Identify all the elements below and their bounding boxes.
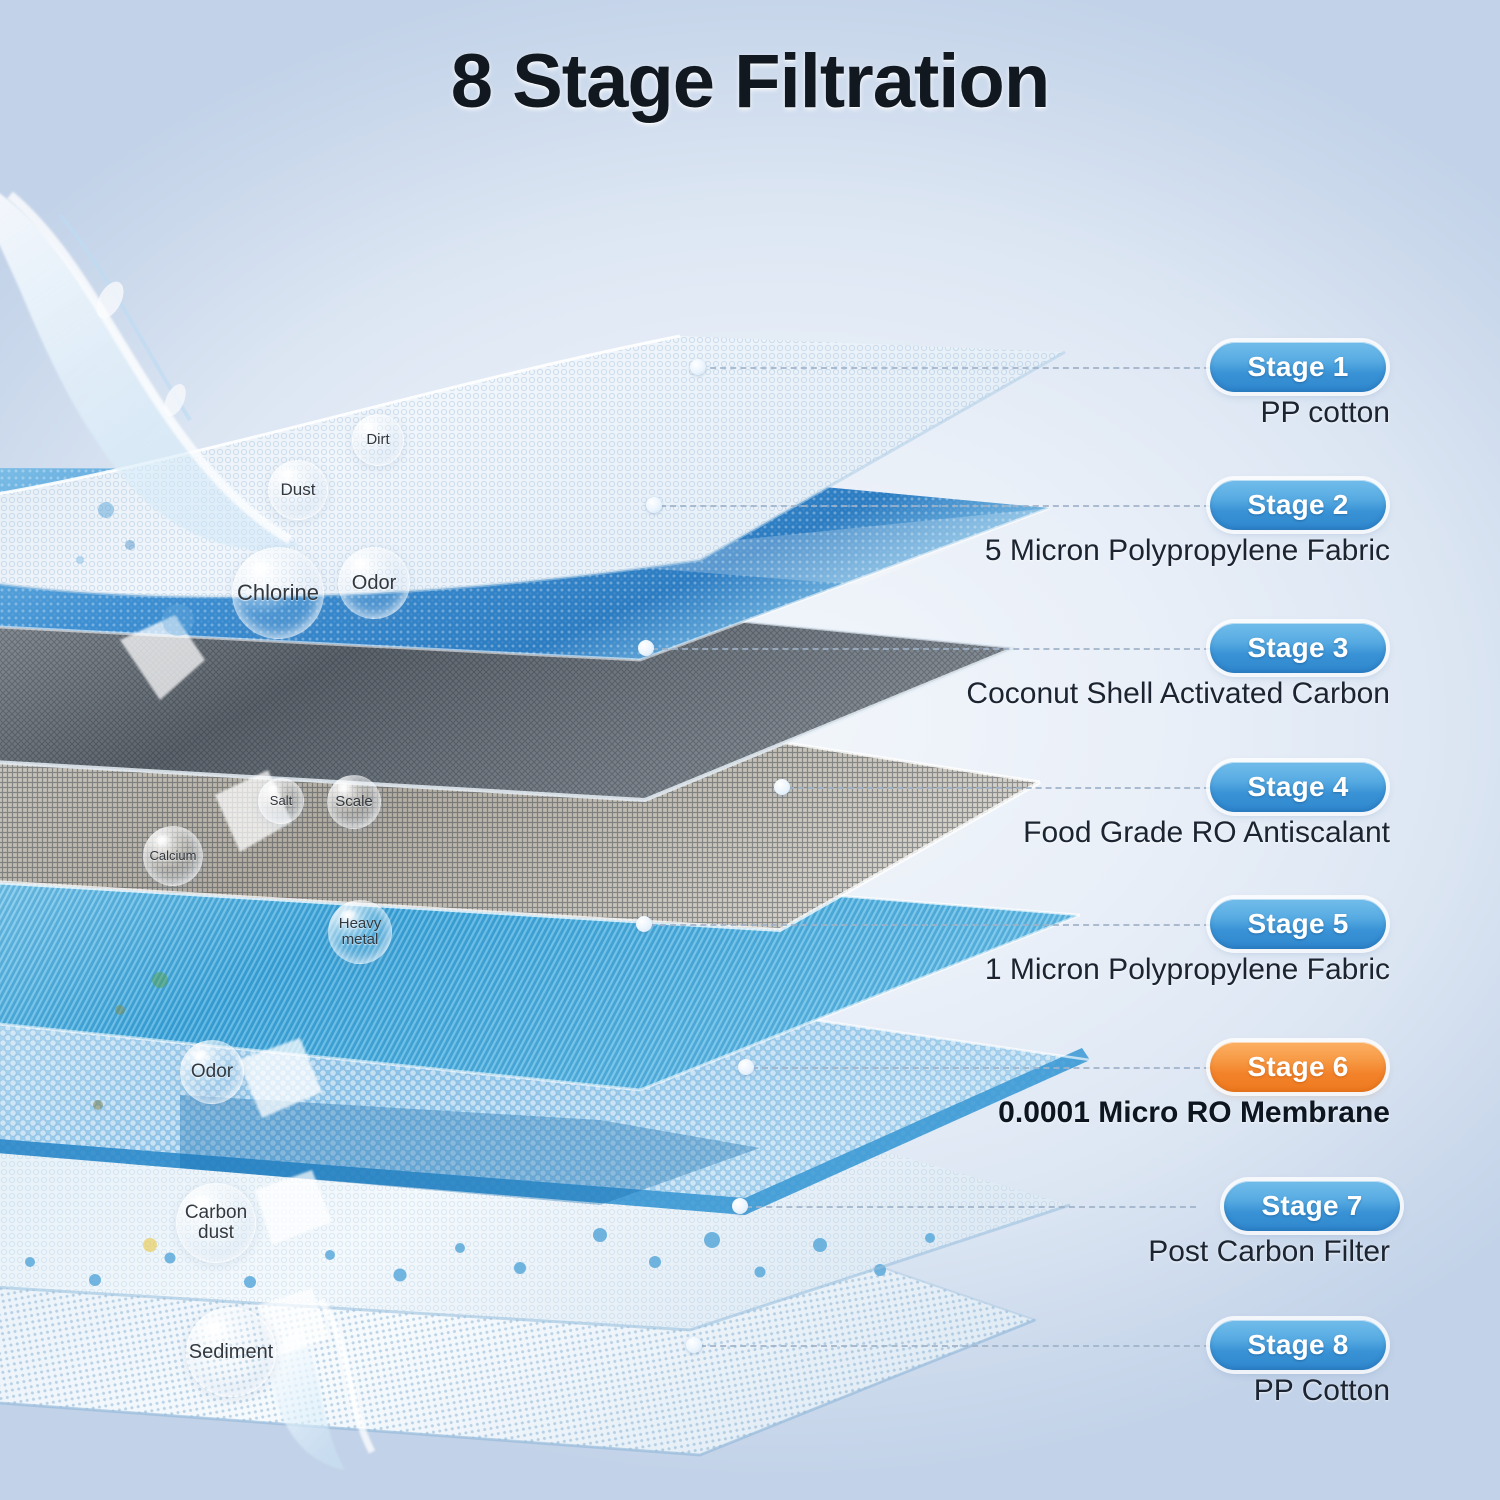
layer-anchor-dot-stage-3 — [638, 640, 654, 656]
layer-anchor-dot-stage-8 — [686, 1337, 702, 1353]
stage-description-5: 1 Micron Polypropylene Fabric — [985, 953, 1390, 987]
leader-line-stage-2 — [660, 505, 1210, 507]
stage-description-7: Post Carbon Filter — [1148, 1235, 1390, 1269]
leader-line-stage-5 — [650, 924, 1210, 926]
stage-badge-1[interactable]: Stage 1 — [1210, 342, 1386, 392]
layer-anchor-dot-stage-4 — [774, 779, 790, 795]
stage-badge-7[interactable]: Stage 7 — [1224, 1181, 1400, 1231]
stage-description-1: PP cotton — [1260, 396, 1390, 430]
stage-badge-8[interactable]: Stage 8 — [1210, 1320, 1386, 1370]
leader-line-stage-1 — [700, 367, 1210, 369]
stage-description-2: 5 Micron Polypropylene Fabric — [985, 534, 1390, 568]
leader-line-stage-7 — [746, 1206, 1196, 1208]
layer-anchor-dot-stage-7 — [732, 1198, 748, 1214]
leader-line-stage-6 — [752, 1067, 1210, 1069]
stage-badge-4[interactable]: Stage 4 — [1210, 762, 1386, 812]
stage-badge-6[interactable]: Stage 6 — [1210, 1042, 1386, 1092]
stage-description-4: Food Grade RO Antiscalant — [1023, 816, 1390, 850]
page-title: 8 Stage Filtration — [0, 38, 1500, 125]
stage-description-6: 0.0001 Micro RO Membrane — [998, 1096, 1390, 1130]
stage-legend-list: Stage 1PP cottonStage 25 Micron Polyprop… — [0, 0, 1500, 1500]
layer-anchor-dot-stage-6 — [738, 1059, 754, 1075]
stage-badge-2[interactable]: Stage 2 — [1210, 480, 1386, 530]
leader-line-stage-3 — [652, 648, 1210, 650]
layer-anchor-dot-stage-1 — [690, 359, 706, 375]
stage-description-8: PP Cotton — [1254, 1374, 1390, 1408]
layer-anchor-dot-stage-5 — [636, 916, 652, 932]
stage-description-3: Coconut Shell Activated Carbon — [966, 677, 1390, 711]
leader-line-stage-8 — [700, 1345, 1210, 1347]
stage-badge-3[interactable]: Stage 3 — [1210, 623, 1386, 673]
leader-line-stage-4 — [788, 787, 1210, 789]
stage-badge-5[interactable]: Stage 5 — [1210, 899, 1386, 949]
infographic-canvas: 8 Stage Filtration — [0, 0, 1500, 1500]
layer-anchor-dot-stage-2 — [646, 497, 662, 513]
